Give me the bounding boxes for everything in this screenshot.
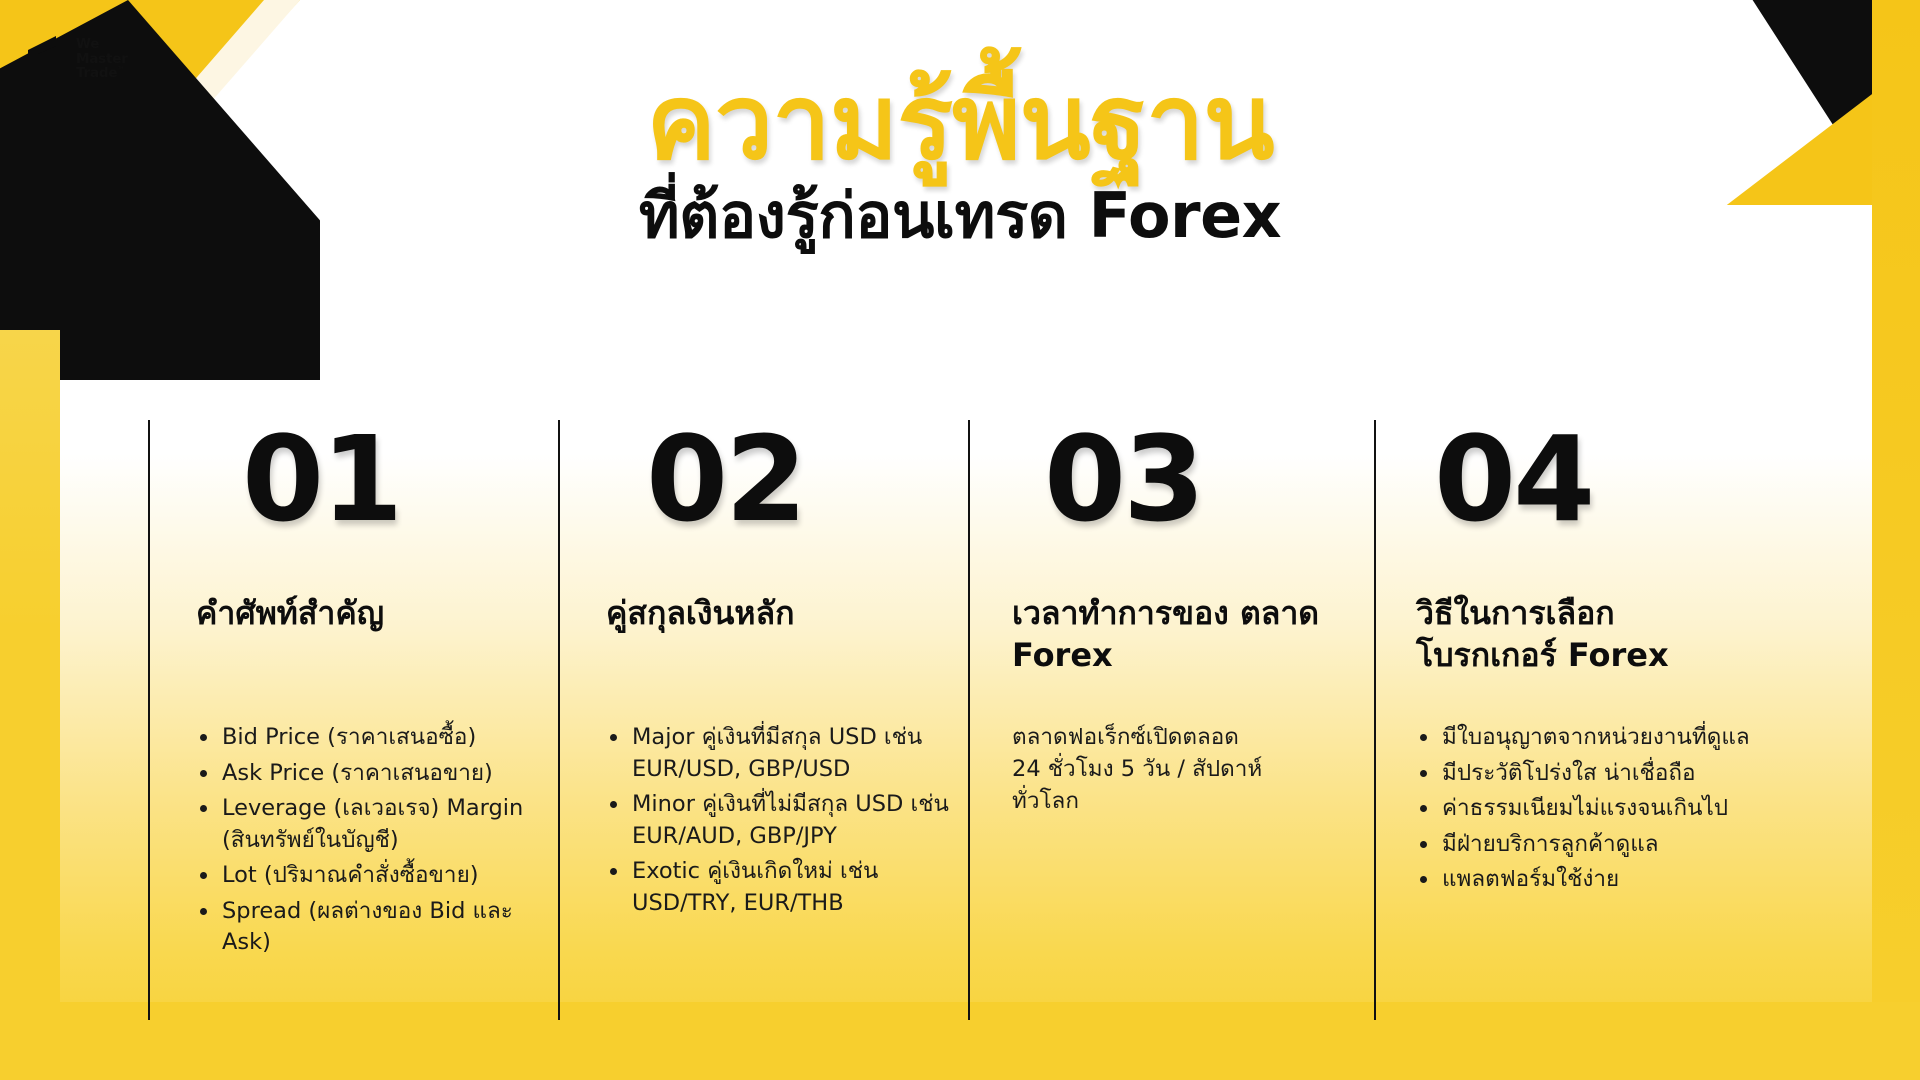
list-item: Spread (ผลต่างของ Bid และ Ask) bbox=[196, 896, 540, 959]
content-column-01: 01 คำศัพท์สำคัญ Bid Price (ราคาเสนอซื้อ)… bbox=[148, 420, 558, 1020]
brand-logo: We Master Trade™ bbox=[22, 34, 128, 84]
left-edge-yellow-strip bbox=[0, 330, 60, 1080]
content-column-03: 03 เวลาทำการของ ตลาด Forex ตลาดฟอเร็กซ์เ… bbox=[968, 420, 1374, 1020]
content-columns: 01 คำศัพท์สำคัญ Bid Price (ราคาเสนอซื้อ)… bbox=[148, 420, 1778, 1020]
column-number-04: 04 bbox=[1434, 420, 1760, 550]
column-number-02: 02 bbox=[646, 420, 950, 550]
list-item: มีฝ่ายบริการลูกค้าดูแล bbox=[1416, 829, 1760, 861]
list-item: มีใบอนุญาตจากหน่วยงานที่ดูแล bbox=[1416, 722, 1760, 754]
column-number-01: 01 bbox=[242, 420, 540, 550]
column-heading-04: วิธีในการเลือก โบรกเกอร์ Forex bbox=[1416, 592, 1760, 684]
list-item: Ask Price (ราคาเสนอขาย) bbox=[196, 758, 540, 790]
page-title: ความรู้พื้นฐาน bbox=[0, 62, 1920, 174]
column-heading-01: คำศัพท์สำคัญ bbox=[196, 592, 540, 684]
column-heading-02: คู่สกุลเงินหลัก bbox=[606, 592, 950, 684]
brand-logo-text: We Master Trade™ bbox=[76, 37, 128, 81]
column-list-01: Bid Price (ราคาเสนอซื้อ) Ask Price (ราคา… bbox=[196, 722, 540, 963]
content-column-02: 02 คู่สกุลเงินหลัก Major คู่เงินที่มีสกุ… bbox=[558, 420, 968, 1020]
list-item: Bid Price (ราคาเสนอซื้อ) bbox=[196, 722, 540, 754]
column-paragraph-03: ตลาดฟอเร็กซ์เปิดตลอด 24 ชั่วโมง 5 วัน / … bbox=[1012, 722, 1356, 818]
list-item: Exotic คู่เงินเกิดใหม่ เช่น USD/TRY, EUR… bbox=[606, 856, 950, 919]
logo-line-3: Trade bbox=[76, 65, 117, 81]
column-list-04: มีใบอนุญาตจากหน่วยงานที่ดูแล มีประวัติโป… bbox=[1416, 722, 1760, 900]
list-item: Minor คู่เงินที่ไม่มีสกุล USD เช่น EUR/A… bbox=[606, 789, 950, 852]
arrow-chevron-logo-icon bbox=[22, 34, 66, 84]
column-heading-03: เวลาทำการของ ตลาด Forex bbox=[1012, 592, 1356, 684]
column-number-03: 03 bbox=[1044, 420, 1356, 550]
column-list-02: Major คู่เงินที่มีสกุล USD เช่น EUR/USD,… bbox=[606, 722, 950, 923]
list-item: มีประวัติโปร่งใส น่าเชื่อถือ bbox=[1416, 758, 1760, 790]
list-item: แพลตฟอร์มใช้ง่าย bbox=[1416, 864, 1760, 896]
list-item: ค่าธรรมเนียมไม่แรงจนเกินไป bbox=[1416, 793, 1760, 825]
list-item: Leverage (เลเวอเรจ) Margin (สินทรัพย์ในบ… bbox=[196, 793, 540, 856]
content-column-04: 04 วิธีในการเลือก โบรกเกอร์ Forex มีใบอน… bbox=[1374, 420, 1778, 1020]
list-item: Lot (ปริมาณคำสั่งซื้อขาย) bbox=[196, 860, 540, 892]
list-item: Major คู่เงินที่มีสกุล USD เช่น EUR/USD,… bbox=[606, 722, 950, 785]
title-block: ความรู้พื้นฐาน ที่ต้องรู้ก่อนเทรด Forex bbox=[0, 62, 1920, 251]
page-subtitle: ที่ต้องรู้ก่อนเทรด Forex bbox=[0, 180, 1920, 251]
trademark-symbol: ™ bbox=[117, 66, 124, 74]
